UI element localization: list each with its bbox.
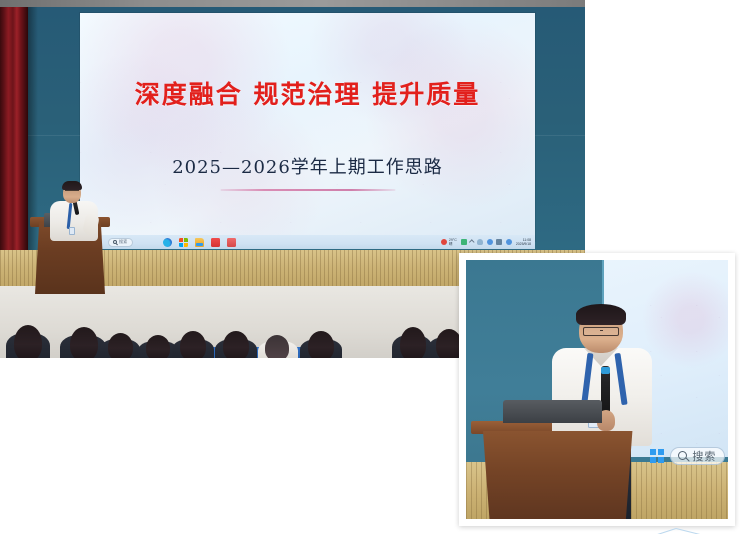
audience-member	[265, 335, 289, 358]
inset-microphone-band	[601, 367, 610, 373]
inset-podium	[476, 431, 638, 519]
ime-icon[interactable]	[496, 239, 502, 245]
taskbar-right-group: 29°C 晴 11:08 2025/9/18	[441, 238, 535, 246]
app-tray-icon[interactable]	[461, 239, 467, 245]
search-icon	[678, 451, 687, 460]
slide-divider-rule	[220, 189, 395, 191]
projection-screen: 深度融合 规范治理 提升质量 2025—2026学年上期工作思路	[80, 13, 535, 241]
inset-windows-taskbar: 搜索	[650, 447, 725, 465]
file-explorer-icon[interactable]	[195, 238, 204, 247]
inset-search-box[interactable]: 搜索	[670, 447, 725, 465]
audience-member	[70, 327, 98, 358]
volume-icon[interactable]	[506, 239, 512, 245]
taskbar-search-placeholder: 搜索	[119, 239, 128, 245]
decorative-line-right	[676, 528, 740, 534]
speaker-badge	[69, 227, 75, 235]
store-icon[interactable]	[179, 238, 188, 247]
speaker-glasses	[65, 190, 79, 193]
audience-member	[14, 325, 42, 358]
bluetooth-icon[interactable]	[487, 239, 493, 245]
weather-widget[interactable]: 29°C 晴	[441, 238, 457, 246]
audience-member	[180, 331, 206, 358]
audience-member	[108, 333, 133, 358]
slide-background-pattern	[80, 13, 535, 241]
weather-icon	[441, 239, 447, 245]
stage-curtain	[0, 7, 28, 250]
right-white-margin	[585, 0, 742, 253]
inset-podium-laptop	[503, 400, 603, 423]
audience-member	[400, 327, 426, 358]
top-grey-strip	[0, 0, 585, 7]
bottom-white-margin	[0, 358, 459, 534]
windows-logo-icon[interactable]	[650, 449, 664, 463]
edge-icon[interactable]	[163, 238, 172, 247]
system-tray	[461, 239, 512, 245]
speaker-hair	[62, 181, 82, 190]
clock-date: 2025/9/18	[516, 242, 531, 246]
taskbar-clock[interactable]: 11:08 2025/9/18	[516, 238, 531, 246]
network-icon[interactable]	[477, 239, 483, 245]
taskbar-search-box[interactable]: 搜索	[108, 238, 133, 247]
audience-member	[223, 331, 249, 358]
weather-description: 晴	[449, 242, 453, 246]
curtain-shadow	[28, 7, 38, 250]
inset-speaker-glasses	[583, 327, 620, 335]
audience-member	[146, 335, 170, 358]
search-icon	[113, 240, 117, 244]
inset-search-placeholder: 搜索	[692, 448, 716, 464]
wps-docs-icon[interactable]	[227, 238, 236, 247]
picture-in-picture-inset[interactable]: 搜索	[459, 253, 735, 526]
audience-member	[308, 331, 334, 358]
decorative-line-left	[590, 528, 676, 534]
taskbar-pinned-apps	[163, 238, 236, 247]
windows-taskbar: 搜索 29°C 晴	[80, 235, 535, 249]
inset-speaker-photo: 搜索	[466, 260, 728, 519]
inset-speaker-hair	[576, 304, 626, 325]
screenshot-root: 深度融合 规范治理 提升质量 2025—2026学年上期工作思路 搜索	[0, 0, 742, 534]
slide-subtitle: 2025—2026学年上期工作思路	[80, 153, 535, 179]
wps-office-icon[interactable]	[211, 238, 220, 247]
chevron-up-icon[interactable]	[470, 240, 475, 245]
slide-title: 深度融合 规范治理 提升质量	[80, 75, 535, 111]
